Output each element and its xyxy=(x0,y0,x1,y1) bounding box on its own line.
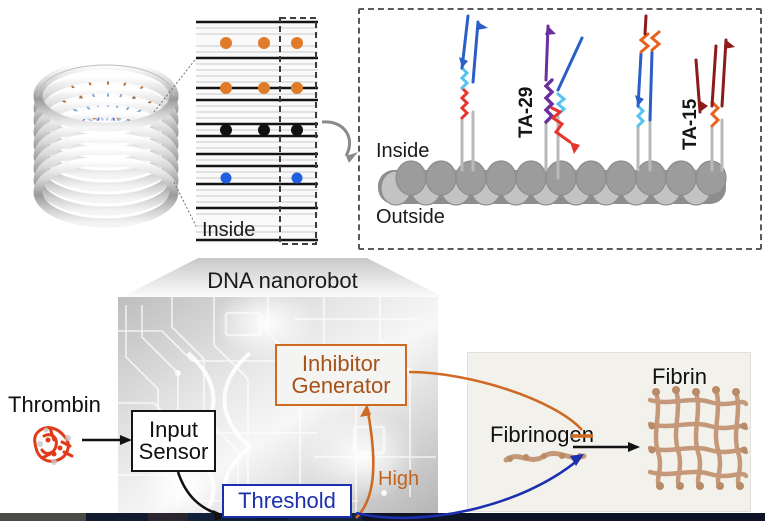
lattice-svg xyxy=(196,18,318,244)
arrow-fibrinogen-to-fibrin xyxy=(573,442,640,452)
arrow-inhibitor-blocks-conversion xyxy=(409,372,593,436)
arrow-threshold-to-inhibitor xyxy=(356,404,373,518)
input-sensor-line2: Sensor xyxy=(139,441,209,463)
arrow-thrombin-to-sensor xyxy=(82,435,132,445)
threshold-label: Threshold xyxy=(238,490,336,512)
strand-group-2 xyxy=(545,26,582,178)
inhibitor-generator-box[interactable]: Inhibitor Generator xyxy=(275,344,407,406)
aptamer-label-ta-15: TA-15 xyxy=(680,99,702,150)
lattice-inside-label: Inside xyxy=(202,219,255,242)
inhibitor-line2: Generator xyxy=(291,375,390,397)
origami-surface xyxy=(378,161,726,205)
high-signal-label: High xyxy=(378,468,419,491)
strand-inside-label: Inside xyxy=(376,140,429,163)
strand-detail-panel: TA-29 TA-15 Inside Outside xyxy=(358,8,762,250)
strand-outside-label: Outside xyxy=(376,206,445,229)
strand-group-3 xyxy=(635,16,659,170)
lattice-panel: Inside xyxy=(196,18,318,244)
inhibitor-line1: Inhibitor xyxy=(291,353,390,375)
arrow-sensor-to-threshold xyxy=(178,472,226,521)
figure-root: Inside xyxy=(0,0,765,521)
threshold-box[interactable]: Threshold xyxy=(222,484,352,518)
strand-group-1 xyxy=(459,16,488,170)
aptamer-label-ta-29: TA-29 xyxy=(516,87,538,138)
input-sensor-box[interactable]: Input Sensor xyxy=(131,410,216,472)
input-sensor-line1: Input xyxy=(139,419,209,441)
